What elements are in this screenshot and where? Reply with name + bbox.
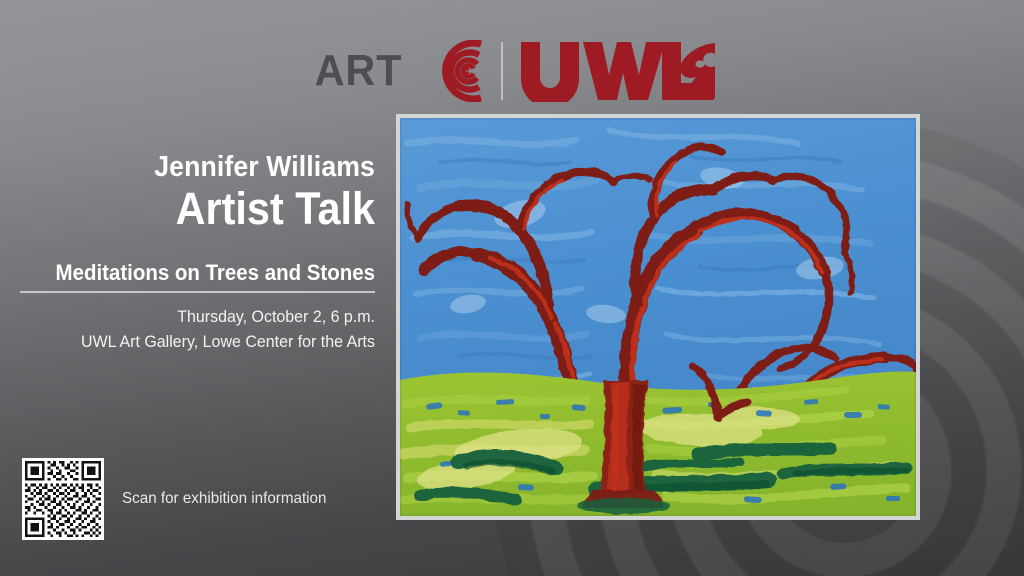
qr-block[interactable]: Scan for exhibition information: [22, 458, 337, 540]
art-wordmark: ART: [315, 49, 403, 93]
uwl-wordmark: [519, 40, 715, 102]
page-title: Artist Talk: [48, 184, 375, 234]
logo-divider: [501, 42, 503, 100]
logo-lockup: ART: [0, 40, 1024, 102]
event-details: Thursday, October 2, 6 p.m. UWL Art Gall…: [20, 305, 375, 354]
exhibition-subtitle: Meditations on Trees and Stones: [45, 260, 375, 285]
event-venue: UWL Art Gallery, Lowe Center for the Art…: [41, 330, 375, 355]
event-text-column: Jennifer Williams Artist Talk Meditation…: [20, 152, 375, 354]
artist-name: Jennifer Williams: [48, 152, 375, 183]
spiral-icon: [421, 40, 487, 102]
artwork-frame: [396, 114, 920, 520]
event-date: Thursday, October 2, 6 p.m.: [41, 305, 375, 330]
qr-caption: Scan for exhibition information: [122, 490, 326, 508]
subtitle-block: Meditations on Trees and Stones: [20, 260, 375, 293]
oak-tree-painting: [400, 118, 916, 516]
event-poster: ART: [0, 0, 1024, 576]
qr-code-icon[interactable]: [22, 458, 104, 540]
